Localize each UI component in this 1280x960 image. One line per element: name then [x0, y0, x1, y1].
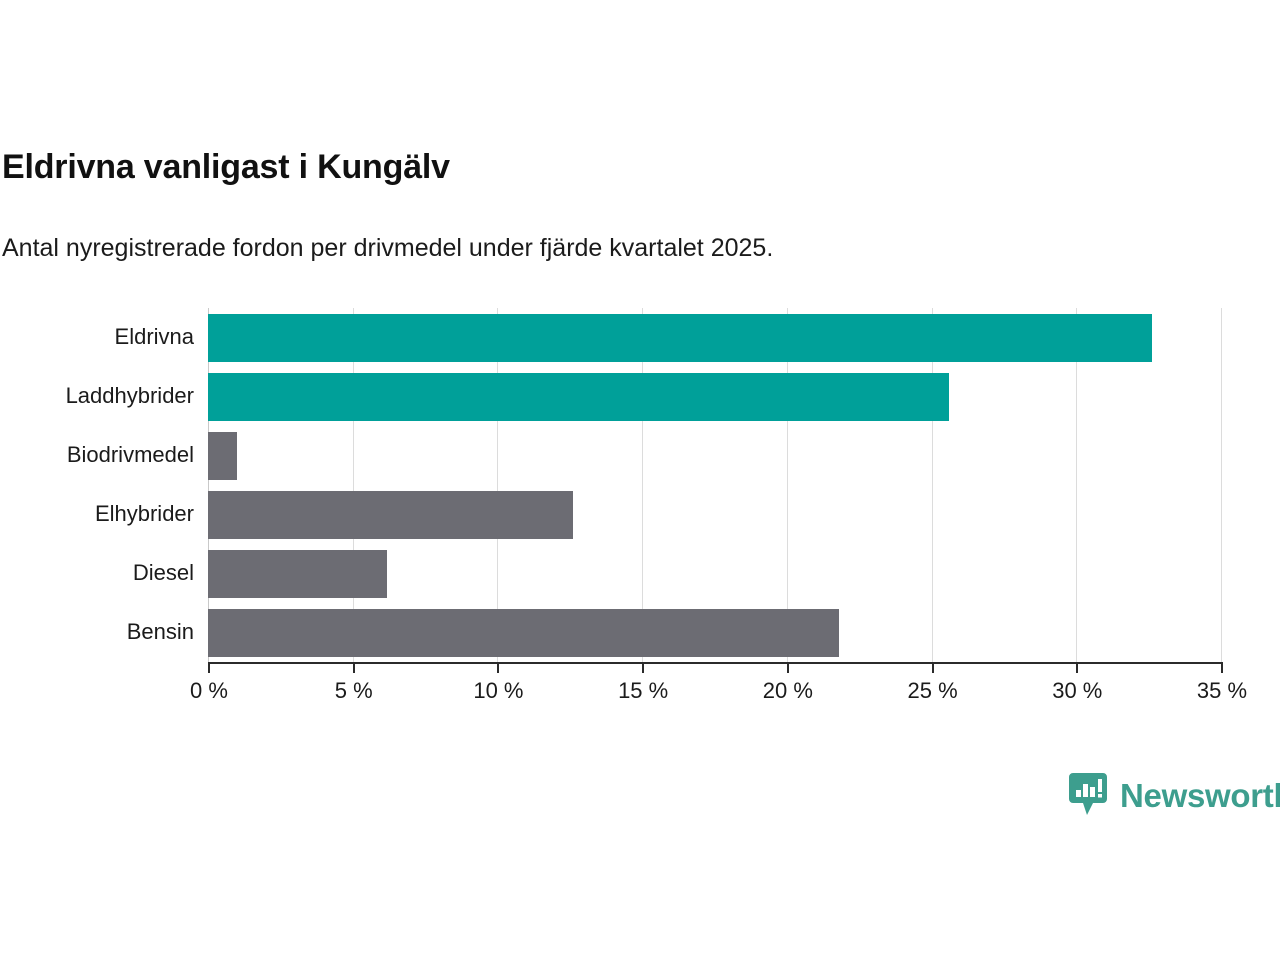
- y-axis-category-labels: EldrivnaLaddhybriderBiodrivmedelElhybrid…: [0, 308, 194, 662]
- x-axis-tick-label: 10 %: [473, 678, 523, 704]
- x-axis-tick-label: 5 %: [335, 678, 373, 704]
- bar-row: [208, 491, 1221, 539]
- page-title: Eldrivna vanligast i Kungälv: [2, 148, 450, 187]
- y-axis-label-elhybrider: Elhybrider: [4, 501, 194, 527]
- bar-row: [208, 314, 1221, 362]
- y-axis-label-diesel: Diesel: [4, 560, 194, 586]
- y-axis-label-biodrivmedel: Biodrivmedel: [4, 442, 194, 468]
- bar-elhybrider: [208, 491, 573, 539]
- x-axis-tick-label: 20 %: [763, 678, 813, 704]
- chart-card: Eldrivna vanligast i Kungälv Antal nyreg…: [0, 0, 1280, 960]
- x-axis-tick: [353, 662, 355, 673]
- x-axis-tick: [1076, 662, 1078, 673]
- bar-biodrivmedel: [208, 432, 237, 480]
- x-axis-tick: [932, 662, 934, 673]
- bar-chart: EldrivnaLaddhybriderBiodrivmedelElhybrid…: [0, 290, 1280, 700]
- x-axis-tick: [497, 662, 499, 673]
- x-axis-tick: [787, 662, 789, 673]
- x-axis-tick-label: 35 %: [1197, 678, 1247, 704]
- x-axis-line: [208, 662, 1222, 664]
- x-axis-tick: [642, 662, 644, 673]
- y-axis-label-laddhybrider: Laddhybrider: [4, 383, 194, 409]
- x-axis-tick: [1221, 662, 1223, 673]
- y-axis-label-eldrivna: Eldrivna: [4, 324, 194, 350]
- bar-diesel: [208, 550, 387, 598]
- x-axis-tick-label: 15 %: [618, 678, 668, 704]
- gridline: [1221, 308, 1222, 662]
- y-axis-label-bensin: Bensin: [4, 619, 194, 645]
- newsworthy-wordmark: Newsworthy: [1120, 779, 1280, 812]
- bar-row: [208, 609, 1221, 657]
- bar-bensin: [208, 609, 839, 657]
- bar-row: [208, 373, 1221, 421]
- bar-row: [208, 550, 1221, 598]
- page-subtitle: Antal nyregistrerade fordon per drivmede…: [2, 234, 773, 263]
- x-axis-tick: [208, 662, 210, 673]
- x-axis-tick-label: 0 %: [190, 678, 228, 704]
- plot-area: [208, 308, 1221, 662]
- x-axis-tick-label: 25 %: [907, 678, 957, 704]
- newsworthy-bubble-chart-icon: [1068, 772, 1108, 818]
- newsworthy-logo: Newsworthy: [1068, 770, 1280, 820]
- x-axis-tick-label: 30 %: [1052, 678, 1102, 704]
- bar-row: [208, 432, 1221, 480]
- bar-eldrivna: [208, 314, 1152, 362]
- bar-laddhybrider: [208, 373, 949, 421]
